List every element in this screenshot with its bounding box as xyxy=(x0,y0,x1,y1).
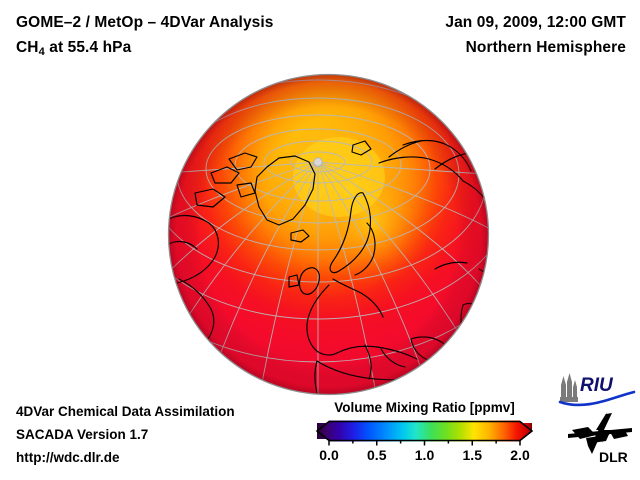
riu-wordmark: RIU xyxy=(580,375,614,396)
page-subtitle: CH4 at 55.4 hPa xyxy=(16,35,376,65)
colorbar-title: Volume Mixing Ratio [ppmv] xyxy=(312,400,537,415)
region-label: Northern Hemisphere xyxy=(326,35,626,60)
footer-left: 4DVar Chemical Data Assimilation SACADA … xyxy=(16,400,316,469)
riu-spires-icon xyxy=(560,373,578,402)
colorbar-tick-label: 0.5 xyxy=(367,447,386,463)
species-label: CH xyxy=(16,39,39,56)
dlr-mark-icon xyxy=(568,412,632,454)
colorbar-frame xyxy=(317,422,532,441)
footer-line-1: 4DVar Chemical Data Assimilation xyxy=(16,400,316,423)
footer-url[interactable]: http://wdc.dlr.de xyxy=(16,446,316,469)
colorbar-tick-label: 0.0 xyxy=(319,447,338,463)
north-pole-marker xyxy=(314,158,322,166)
page-title: GOME–2 / MetOp – 4DVar Analysis xyxy=(16,10,376,35)
dlr-logo: DLR xyxy=(566,410,636,468)
colorbar-tick-label: 1.5 xyxy=(463,447,482,463)
colorbar-tick-label: 2.0 xyxy=(510,447,529,463)
datetime-label: Jan 09, 2009, 12:00 GMT xyxy=(326,10,626,35)
colorbar-tick-label: 1.0 xyxy=(415,447,434,463)
pressure-level-label: at 55.4 hPa xyxy=(45,39,132,56)
globe-map xyxy=(167,73,490,396)
header-left: GOME–2 / MetOp – 4DVar Analysis CH4 at 5… xyxy=(16,10,376,65)
dlr-wordmark: DLR xyxy=(599,449,628,465)
colorbar: Volume Mixing Ratio [ppmv] 0.00.51.01.52… xyxy=(312,400,537,467)
riu-logo: RIU xyxy=(556,371,636,407)
colorbar-tick-labels: 0.00.51.01.52.0 xyxy=(312,447,537,467)
header-right: Jan 09, 2009, 12:00 GMT Northern Hemisph… xyxy=(326,10,626,60)
globe-limb-shading xyxy=(169,75,489,395)
footer-line-2: SACADA Version 1.7 xyxy=(16,423,316,446)
